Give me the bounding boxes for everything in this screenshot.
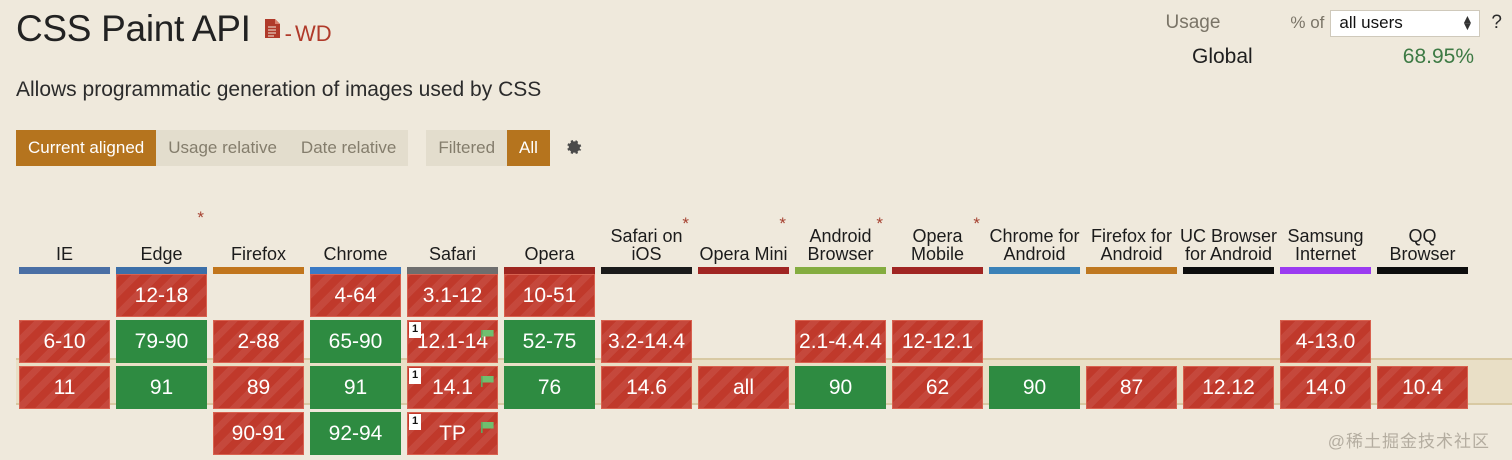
feature-title-row: CSS Paint API - WD: [16, 8, 332, 50]
browser-name-label: QQ Browser: [1374, 227, 1471, 264]
browser-name-label: Safari on iOS: [598, 227, 695, 264]
version-cell-list: 90: [986, 274, 1083, 455]
chevron-updown-icon: ▲▼: [1462, 16, 1474, 29]
browser-color-bar: [213, 267, 304, 274]
version-cell-empty: [1183, 274, 1274, 317]
version-cell[interactable]: 87: [1086, 366, 1177, 409]
version-cell[interactable]: 65-90: [310, 320, 401, 363]
footnote-asterisk-icon: *: [779, 214, 786, 234]
version-cell[interactable]: 11: [19, 366, 110, 409]
audience-select-value: all users: [1339, 13, 1402, 33]
version-cell[interactable]: 91: [310, 366, 401, 409]
browser-name-label: Samsung Internet: [1277, 227, 1374, 264]
global-usage-percent: 68.95%: [1403, 45, 1474, 69]
browser-column-opera-mobile: Opera Mobile*12-12.162: [889, 186, 986, 455]
version-cell-list: 6-1011: [16, 274, 113, 455]
version-cell-list: 10-5152-7576: [501, 274, 598, 455]
browser-color-bar: [698, 267, 789, 274]
version-label: 14.0: [1305, 376, 1346, 400]
browser-name-label: UC Browser for Android: [1180, 227, 1277, 264]
browser-color-bar: [795, 267, 886, 274]
version-cell-list: 12-1879-9091: [113, 274, 210, 455]
browser-name-label: Safari: [429, 245, 476, 264]
version-cell-list: 2.1-4.4.490: [792, 274, 889, 455]
version-cell[interactable]: 90-91: [213, 412, 304, 455]
gear-icon[interactable]: [564, 138, 584, 158]
version-cell[interactable]: 90: [989, 366, 1080, 409]
browser-name-header[interactable]: Firefox: [210, 186, 307, 266]
view-button-usage-relative[interactable]: Usage relative: [156, 130, 289, 166]
version-cell-empty: [1183, 412, 1274, 455]
version-label: 91: [150, 376, 173, 400]
browser-column-samsung-internet: Samsung Internet4-13.014.0: [1277, 186, 1374, 455]
version-cell-empty: [213, 274, 304, 317]
browser-column-android-browser: Android Browser*2.1-4.4.490: [792, 186, 889, 455]
footnote-asterisk-icon: *: [876, 214, 883, 234]
browser-color-bar: [310, 267, 401, 274]
filter-button-filtered[interactable]: Filtered: [426, 130, 507, 166]
version-cell-empty: [1086, 320, 1177, 363]
version-label: 4-13.0: [1296, 330, 1356, 354]
version-cell-list: 4-6465-909192-94: [307, 274, 404, 455]
watermark: @稀土掘金技术社区: [1328, 427, 1490, 452]
version-cell[interactable]: 2.1-4.4.4: [795, 320, 886, 363]
browser-column-safari-on-ios: Safari on iOS*3.2-14.414.6: [598, 186, 695, 455]
version-cell[interactable]: 12-18: [116, 274, 207, 317]
footnote-asterisk-icon: *: [973, 214, 980, 234]
browser-name-header[interactable]: IE: [16, 186, 113, 266]
browser-color-bar: [1280, 267, 1371, 274]
version-cell[interactable]: 52-75: [504, 320, 595, 363]
version-label: 89: [247, 376, 270, 400]
browser-name-header[interactable]: Firefox for Android: [1083, 186, 1180, 266]
version-label: 90: [1023, 376, 1046, 400]
version-cell[interactable]: 10.4: [1377, 366, 1468, 409]
version-cell[interactable]: 112.1-14: [407, 320, 498, 363]
version-cell[interactable]: 12.12: [1183, 366, 1274, 409]
version-label: 79-90: [135, 330, 189, 354]
browser-color-bar: [989, 267, 1080, 274]
version-label: 3.1-12: [423, 284, 483, 308]
version-label: 62: [926, 376, 949, 400]
version-label: TP: [439, 422, 466, 446]
version-cell[interactable]: 91: [116, 366, 207, 409]
view-toolbar: Current alignedUsage relativeDate relati…: [16, 130, 584, 166]
version-cell-empty: [1086, 412, 1177, 455]
feature-description: Allows programmatic generation of images…: [16, 78, 541, 102]
version-label: 4-64: [334, 284, 376, 308]
version-cell[interactable]: 14.0: [1280, 366, 1371, 409]
version-cell[interactable]: 76: [504, 366, 595, 409]
browser-color-bar: [1377, 267, 1468, 274]
caniuse-feature-page: CSS Paint API - WD Allows programmatic g…: [0, 0, 1512, 460]
version-cell-list: 12-12.162: [889, 274, 986, 455]
browser-name-header[interactable]: Edge*: [113, 186, 210, 266]
browser-name-label: Firefox: [231, 245, 286, 264]
flag-icon: [481, 415, 495, 426]
version-label: 2-88: [237, 330, 279, 354]
browser-name-label: IE: [56, 245, 73, 264]
version-cell[interactable]: 12-12.1: [892, 320, 983, 363]
flag-icon: [481, 323, 495, 334]
footnote-badge[interactable]: 1: [409, 322, 421, 338]
browser-column-opera-mini: Opera Mini*all: [695, 186, 792, 455]
version-cell[interactable]: 1TP: [407, 412, 498, 455]
version-cell-empty: [116, 412, 207, 455]
version-cell[interactable]: 79-90: [116, 320, 207, 363]
version-label: 92-94: [329, 422, 383, 446]
footnote-badge[interactable]: 1: [409, 368, 421, 384]
version-cell[interactable]: 10-51: [504, 274, 595, 317]
version-cell-empty: [989, 320, 1080, 363]
view-mode-group: Current alignedUsage relativeDate relati…: [16, 130, 408, 166]
browser-color-bar: [601, 267, 692, 274]
version-label: 12-18: [135, 284, 189, 308]
browser-column-opera: Opera10-5152-7576: [501, 186, 598, 455]
version-label: 12.1-14: [417, 330, 488, 354]
page-title: CSS Paint API: [16, 8, 251, 50]
browser-name-label: Firefox for Android: [1083, 227, 1180, 264]
flag-icon: [481, 369, 495, 380]
version-cell-empty: [698, 320, 789, 363]
browser-name-label: Chrome for Android: [986, 227, 1083, 264]
browser-column-ie: IE6-1011: [16, 186, 113, 455]
version-cell-empty: [1280, 274, 1371, 317]
browser-name-label: Opera: [524, 245, 574, 264]
version-label: 76: [538, 376, 561, 400]
version-label: 90-91: [232, 422, 286, 446]
browser-column-qq-browser: QQ Browser10.4: [1374, 186, 1471, 455]
version-cell[interactable]: 89: [213, 366, 304, 409]
version-cell-empty: [795, 412, 886, 455]
version-cell[interactable]: 6-10: [19, 320, 110, 363]
version-label: 90: [829, 376, 852, 400]
browser-name-header[interactable]: Chrome: [307, 186, 404, 266]
version-cell-list: 3.2-14.414.6: [598, 274, 695, 455]
browser-color-bar: [1086, 267, 1177, 274]
version-cell[interactable]: 62: [892, 366, 983, 409]
browser-name-label: Chrome: [323, 245, 387, 264]
filter-button-all[interactable]: All: [507, 130, 550, 166]
browser-column-chrome-for-android: Chrome for Android90: [986, 186, 1083, 455]
browser-name-label: Opera Mobile: [889, 227, 986, 264]
browser-name-label: Android Browser: [792, 227, 889, 264]
version-cell-empty: [892, 412, 983, 455]
browser-name-header[interactable]: QQ Browser: [1374, 186, 1471, 266]
browser-color-bar: [407, 267, 498, 274]
version-cell[interactable]: 14.6: [601, 366, 692, 409]
browser-name-label: Opera Mini: [699, 245, 787, 264]
version-cell-empty: [504, 412, 595, 455]
version-label: all: [733, 376, 754, 400]
version-cell[interactable]: 2-88: [213, 320, 304, 363]
browser-name-label: Edge: [140, 245, 182, 264]
browser-color-bar: [504, 267, 595, 274]
browser-color-bar: [116, 267, 207, 274]
version-cell-list: all: [695, 274, 792, 455]
version-cell-empty: [1183, 320, 1274, 363]
browser-color-bar: [19, 267, 110, 274]
browser-name-header[interactable]: Samsung Internet: [1277, 186, 1374, 266]
version-cell[interactable]: 3.1-12: [407, 274, 498, 317]
footnote-asterisk-icon: *: [682, 214, 689, 234]
view-button-date-relative[interactable]: Date relative: [289, 130, 408, 166]
version-label: 14.1: [432, 376, 473, 400]
version-cell-empty: [19, 412, 110, 455]
footnote-badge[interactable]: 1: [409, 414, 421, 430]
browser-column-edge: Edge*12-1879-9091: [113, 186, 210, 455]
version-cell-empty: [892, 274, 983, 317]
version-cell-empty: [1377, 274, 1468, 317]
browser-column-uc-browser-for-android: UC Browser for Android12.12: [1180, 186, 1277, 455]
usage-panel: Usage % of all users ▲▼ ? Global 68.95%: [1142, 8, 1502, 69]
help-icon[interactable]: ?: [1491, 12, 1502, 34]
version-cell-empty: [1086, 274, 1177, 317]
version-label: 10-51: [523, 284, 577, 308]
version-label: 65-90: [329, 330, 383, 354]
version-cell[interactable]: 4-64: [310, 274, 401, 317]
browser-column-firefox: Firefox2-888990-91: [210, 186, 307, 455]
version-cell-empty: [698, 412, 789, 455]
version-label: 6-10: [43, 330, 85, 354]
browser-name-header[interactable]: Opera: [501, 186, 598, 266]
browser-name-header[interactable]: Opera Mobile*: [889, 186, 986, 266]
browser-column-safari: Safari3.1-12112.1-14114.11TP: [404, 186, 501, 455]
version-label: 12-12.1: [902, 330, 973, 354]
version-cell[interactable]: 114.1: [407, 366, 498, 409]
browser-name-header[interactable]: Chrome for Android: [986, 186, 1083, 266]
browser-name-header[interactable]: UC Browser for Android: [1180, 186, 1277, 266]
version-cell-empty: [601, 412, 692, 455]
version-cell-empty: [989, 412, 1080, 455]
version-label: 12.12: [1202, 376, 1255, 400]
status-dash: -: [285, 21, 292, 47]
version-label: 91: [344, 376, 367, 400]
version-label: 52-75: [523, 330, 577, 354]
browser-color-bar: [1183, 267, 1274, 274]
percent-of-label: % of: [1290, 13, 1324, 33]
version-cell[interactable]: 3.2-14.4: [601, 320, 692, 363]
version-label: 87: [1120, 376, 1143, 400]
filter-group: FilteredAll: [426, 130, 550, 166]
version-cell-list: 87: [1083, 274, 1180, 455]
usage-label: Usage: [1165, 12, 1220, 34]
version-cell-empty: [698, 274, 789, 317]
document-icon[interactable]: [264, 18, 281, 44]
version-cell[interactable]: 92-94: [310, 412, 401, 455]
version-cell-empty: [601, 274, 692, 317]
view-button-current-aligned[interactable]: Current aligned: [16, 130, 156, 166]
browser-support-table: IE6-1011Edge*12-1879-9091Firefox2-888990…: [16, 186, 1471, 455]
version-cell[interactable]: all: [698, 366, 789, 409]
version-label: 11: [54, 376, 76, 400]
version-label: 10.4: [1402, 376, 1443, 400]
version-cell-empty: [19, 274, 110, 317]
version-cell-empty: [989, 274, 1080, 317]
version-label: 3.2-14.4: [608, 330, 685, 354]
browser-name-header[interactable]: Safari on iOS*: [598, 186, 695, 266]
footnote-asterisk-icon: *: [197, 208, 204, 228]
version-cell-list: 12.12: [1180, 274, 1277, 455]
browser-name-header[interactable]: Opera Mini*: [695, 186, 792, 266]
version-cell-empty: [795, 274, 886, 317]
version-cell[interactable]: 4-13.0: [1280, 320, 1371, 363]
version-cell[interactable]: 90: [795, 366, 886, 409]
browser-name-header[interactable]: Android Browser*: [792, 186, 889, 266]
global-label: Global: [1192, 45, 1253, 69]
browser-color-bar: [892, 267, 983, 274]
browser-name-header[interactable]: Safari: [404, 186, 501, 266]
browser-column-chrome: Chrome4-6465-909192-94: [307, 186, 404, 455]
status-badge[interactable]: WD: [295, 21, 332, 47]
version-cell-list: 3.1-12112.1-14114.11TP: [404, 274, 501, 455]
audience-select[interactable]: all users ▲▼: [1330, 10, 1480, 37]
version-label: 14.6: [626, 376, 667, 400]
version-label: 2.1-4.4.4: [799, 330, 882, 354]
browser-column-firefox-for-android: Firefox for Android87: [1083, 186, 1180, 455]
version-cell-list: 2-888990-91: [210, 274, 307, 455]
version-cell-empty: [1377, 320, 1468, 363]
